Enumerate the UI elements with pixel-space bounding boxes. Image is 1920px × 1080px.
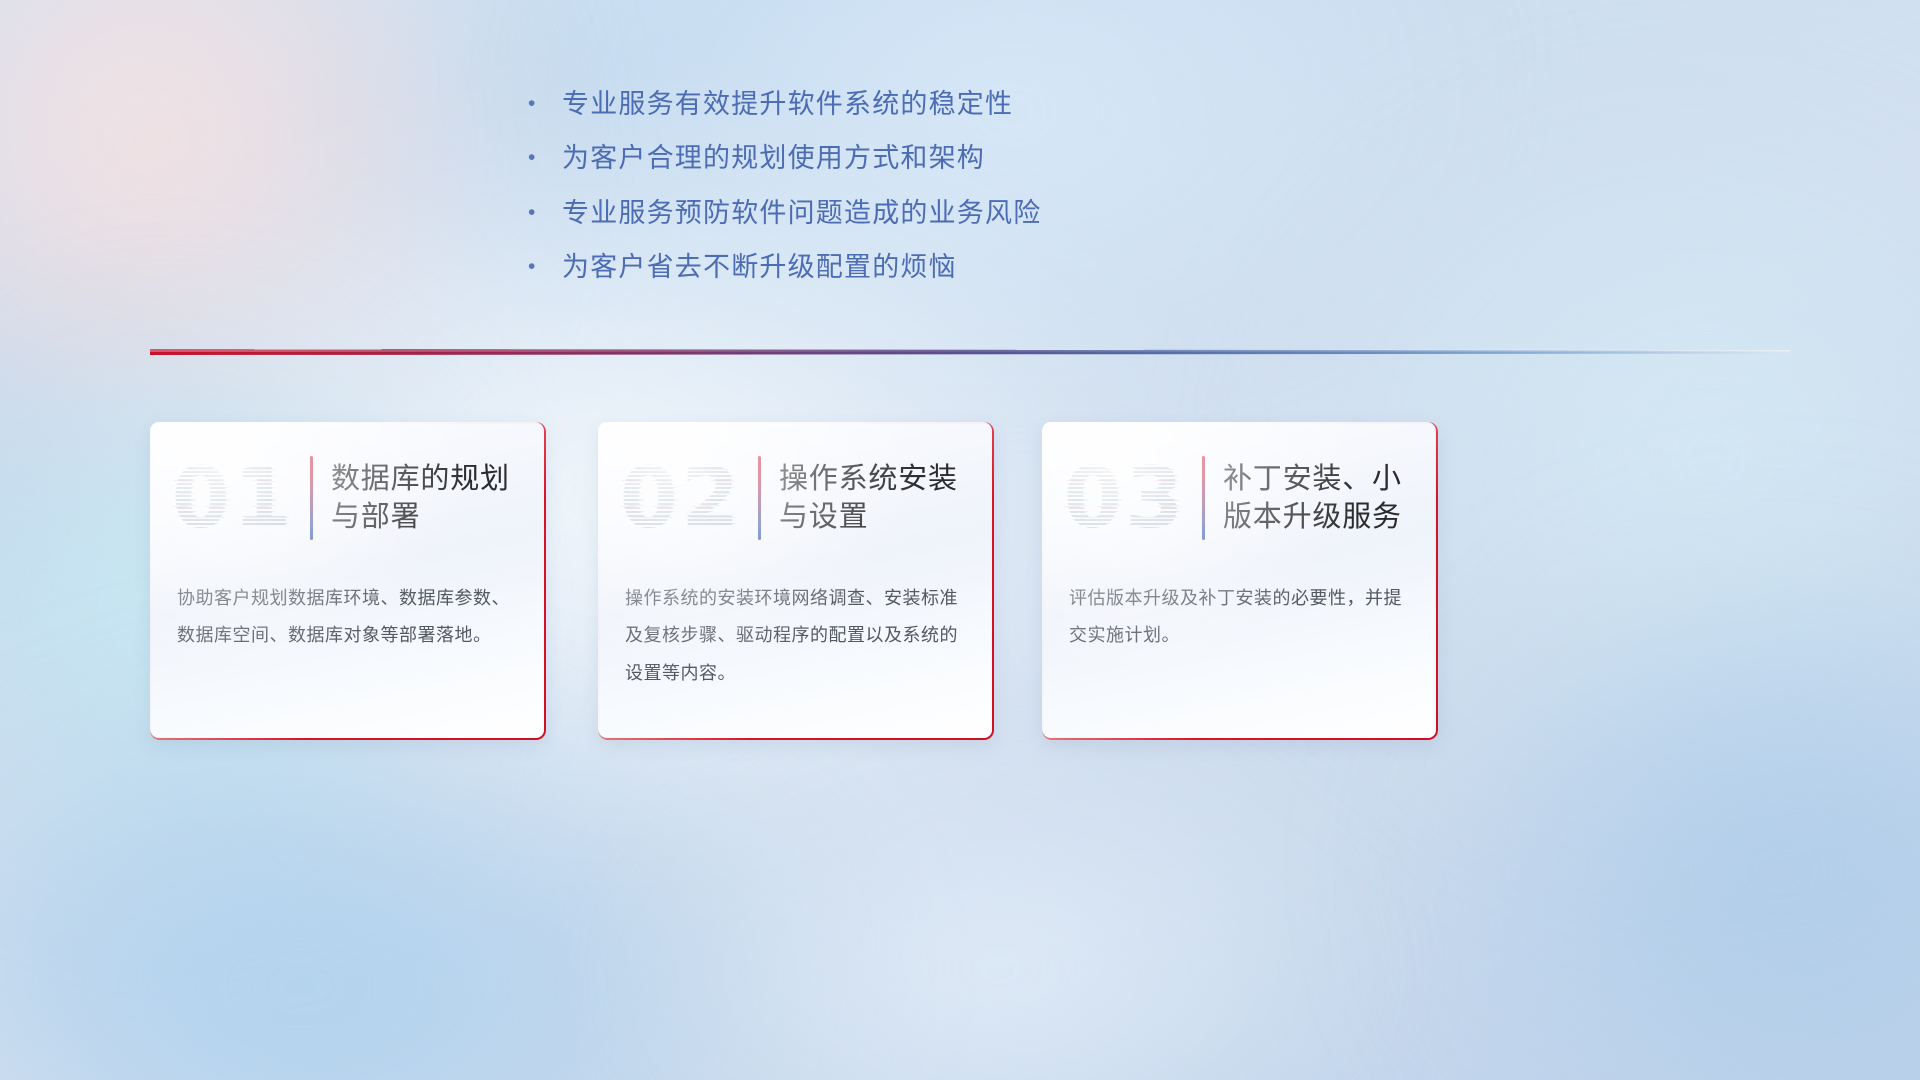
card-header: 02 02 02 02 操作系统安装与设置	[598, 432, 992, 564]
card-header: 01 01 01 01 数据库的规划与部署	[150, 432, 544, 564]
card-number-graphic: 01 01 01 01	[160, 443, 306, 553]
card-number-layer-blue: 01	[165, 443, 311, 553]
card-header: 03 03 03 03 补丁安装、小版本升级服务	[1042, 432, 1436, 564]
card-title: 操作系统安装与设置	[779, 460, 992, 537]
bullet-item: • 专业服务有效提升软件系统的稳定性	[528, 88, 1288, 120]
bullet-text: 专业服务预防软件问题造成的业务风险	[562, 197, 1041, 229]
bullet-marker-icon: •	[528, 256, 562, 277]
service-cards-row: 01 01 01 01 数据库的规划与部署 协助客户规划数据库环境、数据库参数、…	[150, 422, 1790, 742]
card-surface: 02 02 02 02 操作系统安装与设置 操作系统的安装环境网络调查、安装标准…	[598, 422, 992, 738]
slide-canvas: • 专业服务有效提升软件系统的稳定性 • 为客户合理的规划使用方式和架构 • 专…	[0, 0, 1920, 1080]
section-divider	[150, 345, 1790, 361]
card-number-layer-blue: 03	[1057, 443, 1203, 553]
bullet-item: • 专业服务预防软件问题造成的业务风险	[528, 197, 1288, 229]
benefits-bullet-list: • 专业服务有效提升软件系统的稳定性 • 为客户合理的规划使用方式和架构 • 专…	[528, 88, 1288, 306]
bullet-marker-icon: •	[528, 202, 562, 223]
bullet-text: 为客户合理的规划使用方式和架构	[562, 142, 985, 174]
service-card-03[interactable]: 03 03 03 03 补丁安装、小版本升级服务 评估版本升级及补丁安装的必要性…	[1042, 422, 1438, 740]
bullet-marker-icon: •	[528, 147, 562, 168]
bullet-text: 为客户省去不断升级配置的烦恼	[562, 251, 957, 283]
card-description: 操作系统的安装环境网络调查、安装标准及复核步骤、驱动程序的配置以及系统的设置等内…	[625, 580, 970, 692]
card-description: 评估版本升级及补丁安装的必要性，并提交实施计划。	[1069, 580, 1414, 655]
card-surface: 01 01 01 01 数据库的规划与部署 协助客户规划数据库环境、数据库参数、…	[150, 422, 544, 738]
card-surface: 03 03 03 03 补丁安装、小版本升级服务 评估版本升级及补丁安装的必要性…	[1042, 422, 1436, 738]
card-description: 协助客户规划数据库环境、数据库参数、数据库空间、数据库对象等部署落地。	[177, 580, 522, 655]
service-card-01[interactable]: 01 01 01 01 数据库的规划与部署 协助客户规划数据库环境、数据库参数、…	[150, 422, 546, 740]
bullet-marker-icon: •	[528, 93, 562, 114]
card-number-graphic: 02 02 02 02	[608, 443, 754, 553]
bullet-text: 专业服务有效提升软件系统的稳定性	[562, 88, 1013, 120]
card-number-layer-blue: 02	[613, 443, 759, 553]
card-number-graphic: 03 03 03 03	[1052, 443, 1198, 553]
bullet-item: • 为客户合理的规划使用方式和架构	[528, 142, 1288, 174]
card-title: 数据库的规划与部署	[331, 460, 544, 537]
card-title: 补丁安装、小版本升级服务	[1223, 460, 1436, 537]
service-card-02[interactable]: 02 02 02 02 操作系统安装与设置 操作系统的安装环境网络调查、安装标准…	[598, 422, 994, 740]
bullet-item: • 为客户省去不断升级配置的烦恼	[528, 251, 1288, 283]
